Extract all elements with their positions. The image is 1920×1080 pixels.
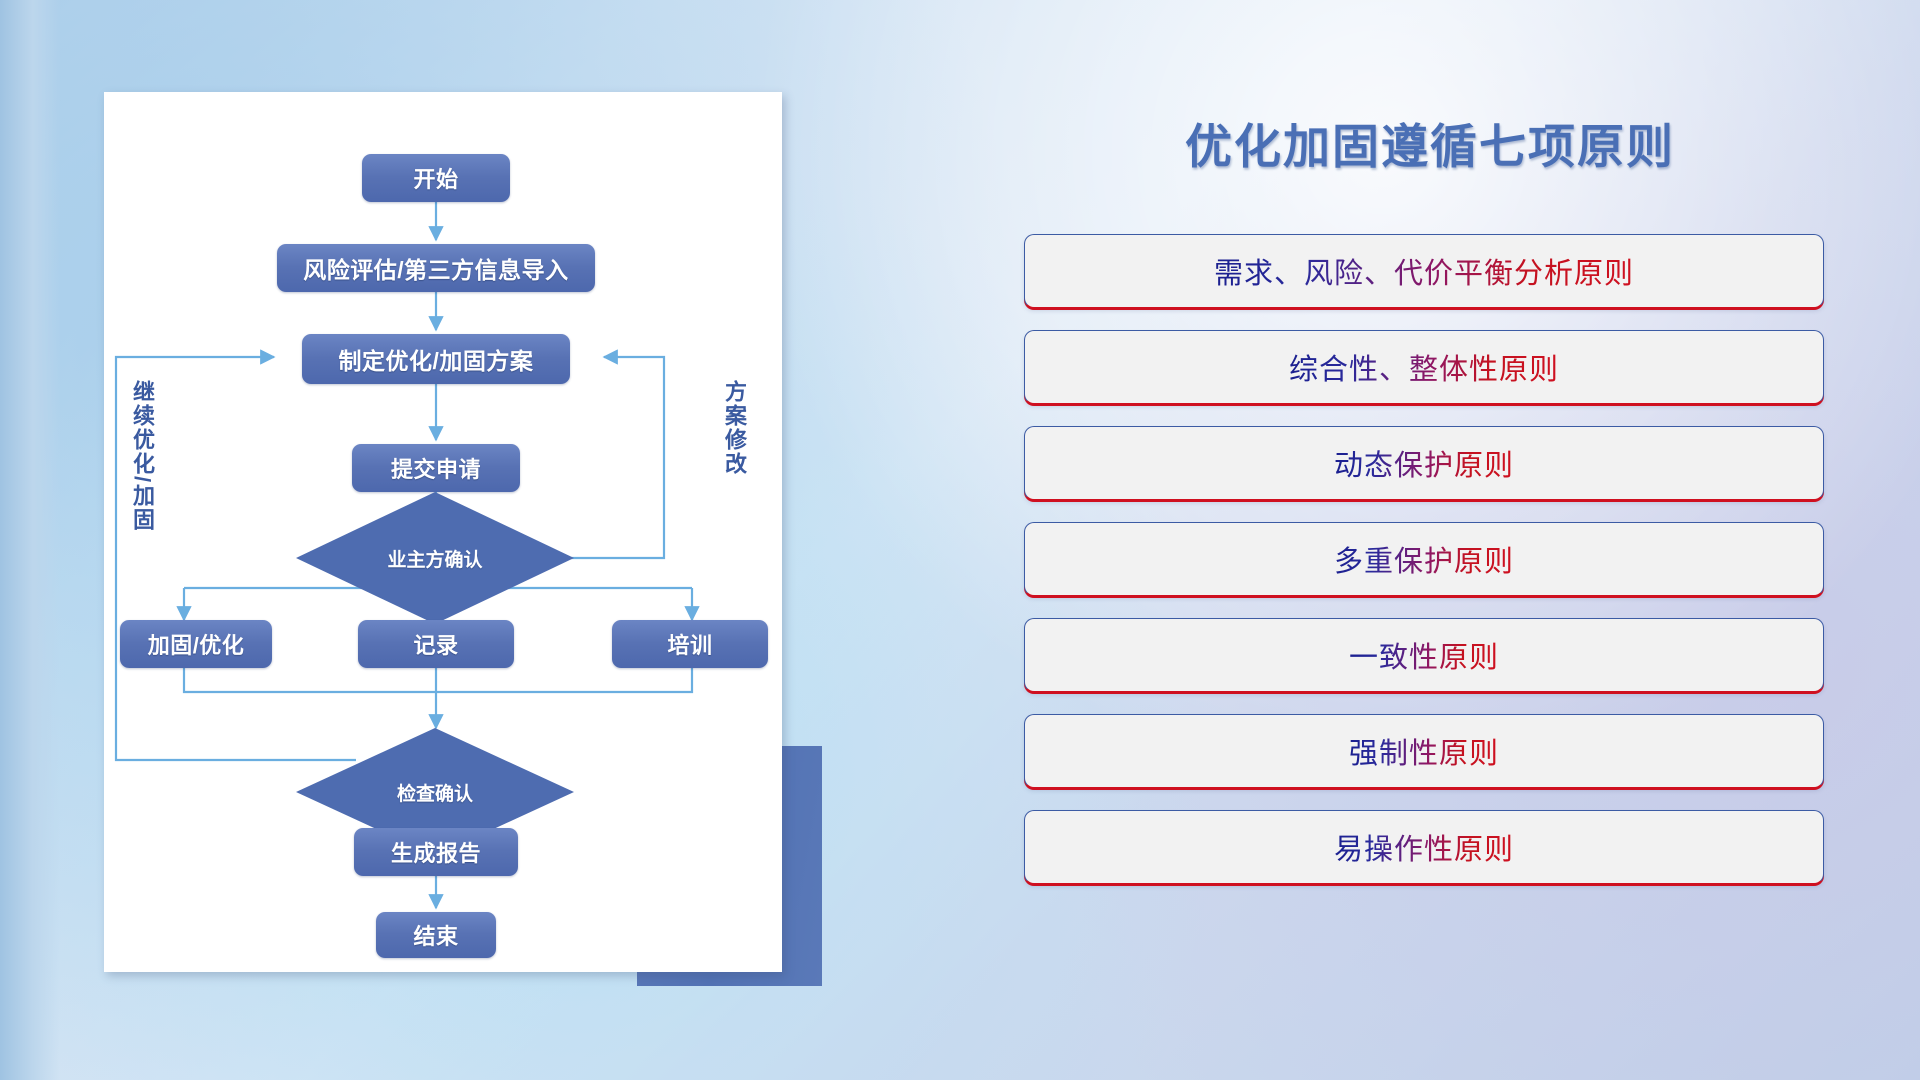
flowchart-card: 开始 风险评估/第三方信息导入 制定优化/加固方案 提交申请 业主方确认 加固/… bbox=[104, 92, 782, 972]
flow-edge-label-plan-revision: 方案修改 bbox=[718, 380, 750, 476]
principle-card[interactable]: 强制性原则 bbox=[1024, 714, 1824, 788]
principle-label: 综合性、整体性原则 bbox=[1289, 346, 1559, 388]
flow-node-label: 检查确认 bbox=[397, 779, 473, 806]
flow-node-label: 开始 bbox=[413, 162, 458, 194]
flow-node-plan[interactable]: 制定优化/加固方案 bbox=[302, 334, 570, 384]
flow-node-risk-assessment[interactable]: 风险评估/第三方信息导入 bbox=[277, 244, 595, 292]
principle-label: 一致性原则 bbox=[1349, 634, 1499, 676]
flow-node-end[interactable]: 结束 bbox=[376, 912, 496, 958]
flow-node-generate-report[interactable]: 生成报告 bbox=[354, 828, 518, 876]
principle-label: 多重保护原则 bbox=[1334, 538, 1514, 580]
panel-title: 优化加固遵循七项原则 bbox=[1000, 108, 1860, 177]
flow-node-training[interactable]: 培训 bbox=[612, 620, 768, 668]
principle-card[interactable]: 动态保护原则 bbox=[1024, 426, 1824, 500]
principle-card[interactable]: 多重保护原则 bbox=[1024, 522, 1824, 596]
flow-node-label: 结束 bbox=[413, 919, 458, 951]
flow-node-label: 风险评估/第三方信息导入 bbox=[303, 251, 568, 285]
slide-canvas: 开始 风险评估/第三方信息导入 制定优化/加固方案 提交申请 业主方确认 加固/… bbox=[0, 0, 1920, 1080]
principle-list: 需求、风险、代价平衡分析原则 综合性、整体性原则 动态保护原则 多重保护原则 一… bbox=[1024, 234, 1824, 906]
principle-card[interactable]: 一致性原则 bbox=[1024, 618, 1824, 692]
principle-label: 动态保护原则 bbox=[1334, 442, 1514, 484]
principles-panel: 优化加固遵循七项原则 需求、风险、代价平衡分析原则 综合性、整体性原则 动态保护… bbox=[1000, 92, 1860, 1012]
flow-node-submit-application[interactable]: 提交申请 bbox=[352, 444, 520, 492]
principle-label: 强制性原则 bbox=[1349, 730, 1499, 772]
principle-label: 易操作性原则 bbox=[1334, 826, 1514, 868]
flow-node-record[interactable]: 记录 bbox=[358, 620, 514, 668]
flow-edge-label-continue-optimize: 继续优化/加固 bbox=[126, 380, 158, 532]
flow-node-label: 培训 bbox=[667, 628, 712, 660]
flow-node-label: 业主方确认 bbox=[387, 545, 482, 572]
flow-node-label: 提交申请 bbox=[391, 452, 481, 484]
principle-card[interactable]: 综合性、整体性原则 bbox=[1024, 330, 1824, 404]
flow-node-label: 记录 bbox=[413, 628, 458, 660]
flow-node-label: 制定优化/加固方案 bbox=[339, 342, 534, 376]
principle-card[interactable]: 易操作性原则 bbox=[1024, 810, 1824, 884]
flow-node-start[interactable]: 开始 bbox=[362, 154, 510, 202]
flow-node-label: 加固/优化 bbox=[148, 628, 245, 660]
flow-node-label: 生成报告 bbox=[391, 836, 481, 868]
flow-node-reinforce[interactable]: 加固/优化 bbox=[120, 620, 272, 668]
flow-node-owner-confirm[interactable]: 业主方确认 bbox=[296, 492, 574, 624]
principle-label: 需求、风险、代价平衡分析原则 bbox=[1214, 250, 1634, 292]
principle-card[interactable]: 需求、风险、代价平衡分析原则 bbox=[1024, 234, 1824, 308]
